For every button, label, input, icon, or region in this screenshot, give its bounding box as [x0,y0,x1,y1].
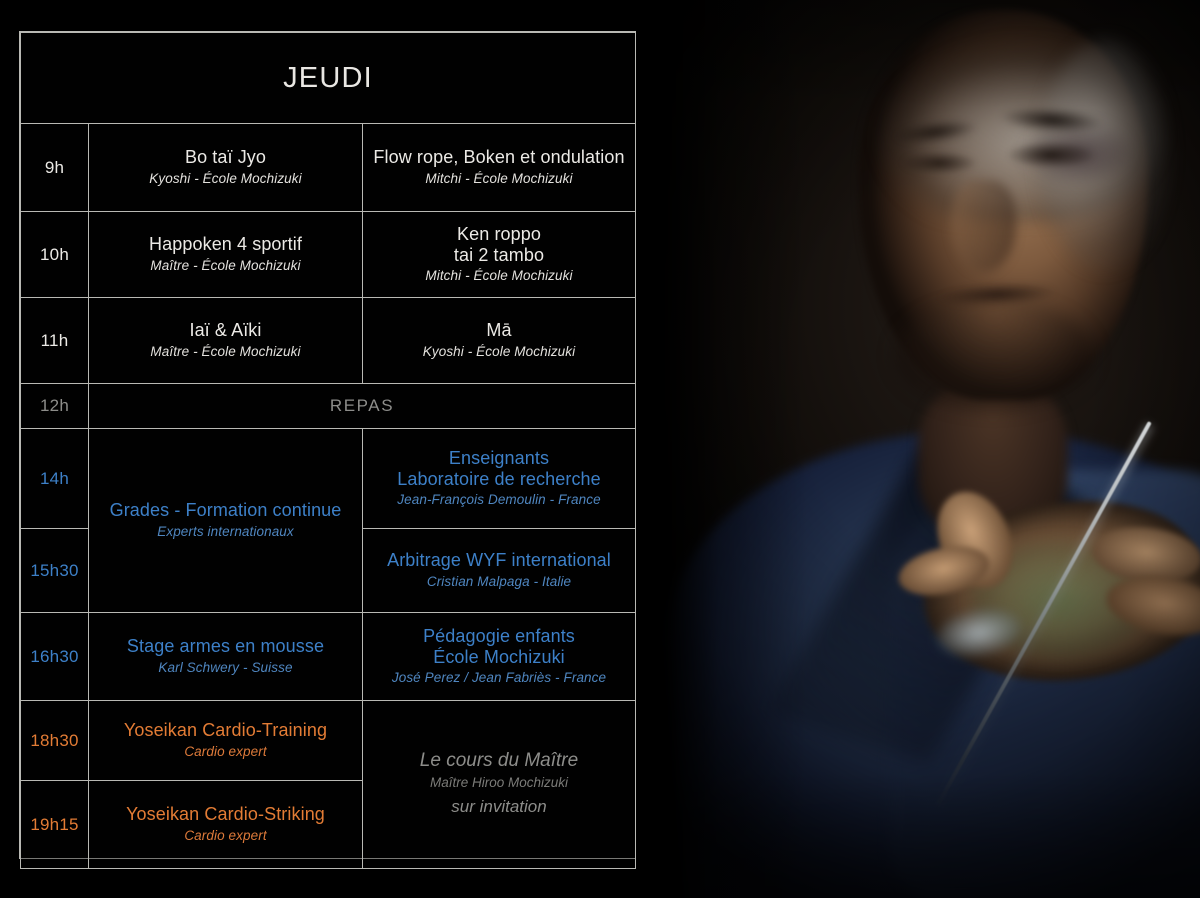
page-title: JEUDI [27,62,629,95]
session-cell-11h-left[interactable]: Iaï & Aïki Maître - École Mochizuki [89,298,363,384]
time-cell-15h30: 15h30 [21,529,89,613]
master-class-title: Le cours du Maître [369,749,629,774]
session-cell-15h30-right[interactable]: Arbitrage WYF international Cristian Mal… [363,529,636,613]
session-cell-master-class-merged[interactable]: Le cours du Maître Maître Hiroo Mochizuk… [363,701,636,869]
session-instructor: José Perez / Jean Fabriès - France [369,670,629,687]
session-title: Iaï & Aïki [95,320,356,341]
time-label: 11h [27,331,82,351]
session-instructor: Cardio expert [95,744,356,761]
break-label: REPAS [95,396,629,416]
time-label: 16h30 [27,647,82,667]
time-cell-11h: 11h [21,298,89,384]
day-header-cell: JEUDI [21,33,636,124]
time-label: 12h [27,396,82,416]
session-instructor: Kyoshi - École Mochizuki [369,344,629,361]
photo-vignette [640,0,1200,898]
session-title: Pédagogie enfantsÉcole Mochizuki [369,626,629,668]
time-label: 19h15 [27,815,82,835]
time-cell-19h15: 19h15 [21,781,89,869]
session-instructor: Jean-François Demoulin - France [369,492,629,509]
time-cell-9h: 9h [21,124,89,212]
session-cell-grades-merged[interactable]: Grades - Formation continue Experts inte… [89,429,363,613]
schedule-table-container: JEUDI 9h Bo taï Jyo Kyoshi - École Mochi… [19,31,636,859]
session-cell-14h-right[interactable]: EnseignantsLaboratoire de recherche Jean… [363,429,636,529]
session-cell-9h-left[interactable]: Bo taï Jyo Kyoshi - École Mochizuki [89,124,363,212]
session-instructor: Kyoshi - École Mochizuki [95,171,356,188]
time-label: 15h30 [27,561,82,581]
session-title: Bo taï Jyo [95,147,356,168]
session-title: Grades - Formation continue [95,500,356,521]
time-label: 18h30 [27,731,82,751]
session-cell-10h-left[interactable]: Happoken 4 sportif Maître - École Mochiz… [89,212,363,298]
session-cell-10h-right[interactable]: Ken roppotai 2 tambo Mitchi - École Moch… [363,212,636,298]
session-title: Flow rope, Boken et ondulation [369,147,629,168]
session-title: Mā [369,320,629,341]
master-class-note: sur invitation [369,793,629,820]
session-instructor: Cardio expert [95,828,356,845]
schedule-table: JEUDI 9h Bo taï Jyo Kyoshi - École Mochi… [20,32,636,869]
table-row: 14h Grades - Formation continue Experts … [21,429,636,529]
table-row: 16h30 Stage armes en mousse Karl Schwery… [21,613,636,701]
table-row: 11h Iaï & Aïki Maître - École Mochizuki … [21,298,636,384]
session-title: Yoseikan Cardio-Training [95,720,356,741]
session-title: EnseignantsLaboratoire de recherche [369,448,629,490]
table-row: 9h Bo taï Jyo Kyoshi - École Mochizuki F… [21,124,636,212]
master-class-instructor: Maître Hiroo Mochizuki [369,773,629,793]
session-cell-16h30-left[interactable]: Stage armes en mousse Karl Schwery - Sui… [89,613,363,701]
time-label: 14h [27,469,82,489]
time-label: 10h [27,245,82,265]
session-title: Ken roppotai 2 tambo [369,224,629,266]
time-cell-12h: 12h [21,384,89,429]
session-instructor: Mitchi - École Mochizuki [369,171,629,188]
time-cell-10h: 10h [21,212,89,298]
session-cell-18h30-left[interactable]: Yoseikan Cardio-Training Cardio expert [89,701,363,781]
table-row: 18h30 Yoseikan Cardio-Training Cardio ex… [21,701,636,781]
session-cell-19h15-left[interactable]: Yoseikan Cardio-Striking Cardio expert [89,781,363,869]
time-label: 9h [27,158,82,178]
time-cell-18h30: 18h30 [21,701,89,781]
table-row-break: 12h REPAS [21,384,636,429]
session-instructor: Mitchi - École Mochizuki [369,268,629,285]
session-instructor: Maître - École Mochizuki [95,258,356,275]
master-portrait-photo [640,0,1200,898]
break-cell: REPAS [89,384,636,429]
session-title: Stage armes en mousse [95,636,356,657]
time-cell-14h: 14h [21,429,89,529]
session-instructor: Cristian Malpaga - Italie [369,574,629,591]
time-cell-16h30: 16h30 [21,613,89,701]
session-instructor: Karl Schwery - Suisse [95,660,356,677]
session-cell-9h-right[interactable]: Flow rope, Boken et ondulation Mitchi - … [363,124,636,212]
session-title: Arbitrage WYF international [369,550,629,571]
schedule-header-row: JEUDI [21,33,636,124]
session-instructor: Experts internationaux [95,524,356,541]
session-cell-16h30-right[interactable]: Pédagogie enfantsÉcole Mochizuki José Pe… [363,613,636,701]
session-title: Happoken 4 sportif [95,234,356,255]
table-row: 10h Happoken 4 sportif Maître - École Mo… [21,212,636,298]
session-title: Yoseikan Cardio-Striking [95,804,356,825]
session-cell-11h-right[interactable]: Mā Kyoshi - École Mochizuki [363,298,636,384]
session-instructor: Maître - École Mochizuki [95,344,356,361]
